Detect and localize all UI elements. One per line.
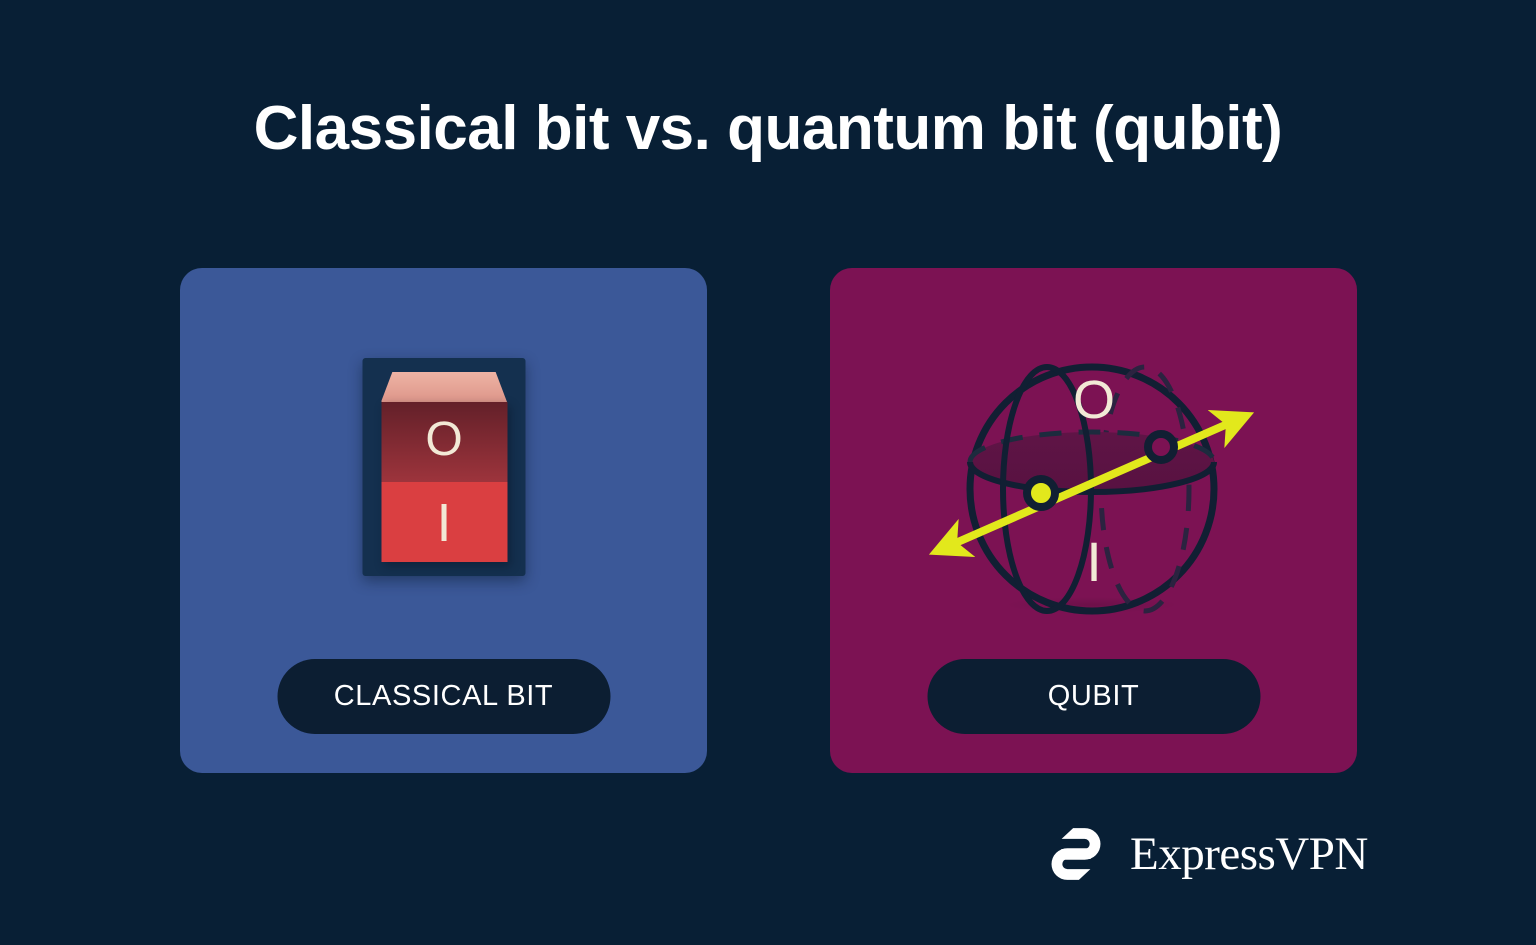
- bloch-sphere-illustration: O I: [929, 333, 1259, 623]
- bloch-sphere-svg: O I: [929, 333, 1259, 623]
- brand-logo: ExpressVPN: [1040, 818, 1368, 890]
- state-node-hollow: [1148, 434, 1174, 460]
- switch-top-bevel: [381, 372, 507, 402]
- expressvpn-logo-icon: [1040, 818, 1112, 890]
- page-title: Classical bit vs. quantum bit (qubit): [0, 96, 1536, 161]
- label-classical-bit: CLASSICAL BIT: [277, 659, 610, 734]
- sphere-glyph-top: O: [1072, 370, 1114, 430]
- rocker-switch-illustration: O I: [362, 358, 525, 576]
- card-qubit: O I QUBIT: [830, 268, 1357, 773]
- switch-face: O I: [381, 402, 507, 562]
- card-classical-bit: O I CLASSICAL BIT: [180, 268, 707, 773]
- switch-glyph-off: O: [381, 416, 507, 464]
- switch-glyph-on: I: [381, 496, 507, 550]
- state-node-filled: [1027, 479, 1055, 507]
- sphere-glyph-bottom: I: [1086, 530, 1102, 593]
- brand-name: ExpressVPN: [1130, 827, 1368, 881]
- label-qubit: QUBIT: [927, 659, 1260, 734]
